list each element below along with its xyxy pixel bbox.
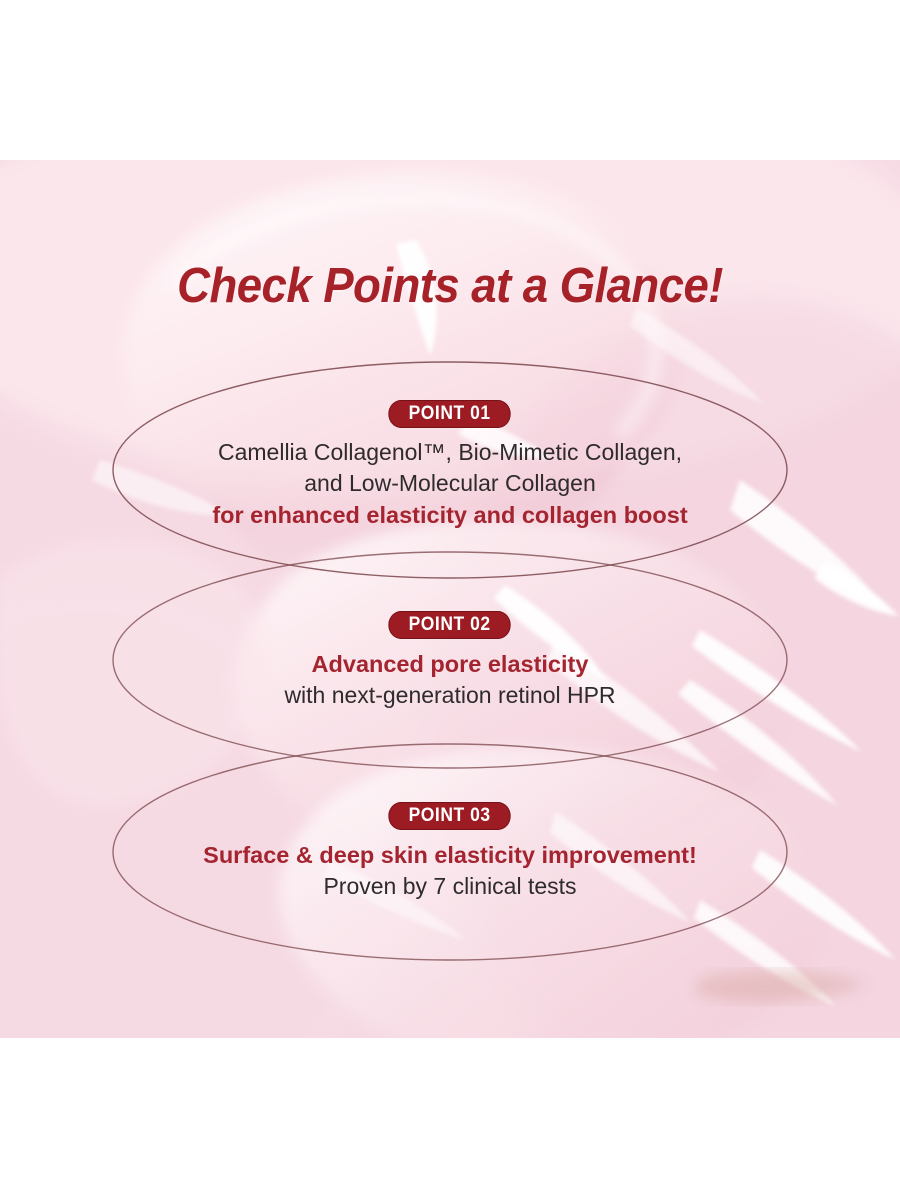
point-line: with next-generation retinol HPR xyxy=(0,680,900,711)
point-badge-01: POINT 01 xyxy=(389,400,512,428)
point-block-03: POINT 03 Surface & deep skin elasticity … xyxy=(0,802,900,902)
point-line: Proven by 7 clinical tests xyxy=(0,871,900,902)
point-line: Camellia Collagenol™, Bio-Mimetic Collag… xyxy=(0,437,900,468)
point-line: Surface & deep skin elasticity improveme… xyxy=(0,839,900,871)
point-text-03: Surface & deep skin elasticity improveme… xyxy=(0,839,900,902)
point-badge-03: POINT 03 xyxy=(389,802,512,830)
point-text-02: Advanced pore elasticity with next-gener… xyxy=(0,648,900,711)
page-title: Check Points at a Glance! xyxy=(32,258,869,314)
point-line: for enhanced elasticity and collagen boo… xyxy=(0,499,900,531)
point-block-01: POINT 01 Camellia Collagenol™, Bio-Mimet… xyxy=(0,400,900,531)
point-line: Advanced pore elasticity xyxy=(0,648,900,680)
point-text-01: Camellia Collagenol™, Bio-Mimetic Collag… xyxy=(0,437,900,531)
point-badge-02: POINT 02 xyxy=(389,611,512,639)
product-detail-page: Check Points at a Glance! POINT 01 Camel… xyxy=(0,0,900,1200)
point-line: and Low-Molecular Collagen xyxy=(0,468,900,499)
point-block-02: POINT 02 Advanced pore elasticity with n… xyxy=(0,611,900,711)
